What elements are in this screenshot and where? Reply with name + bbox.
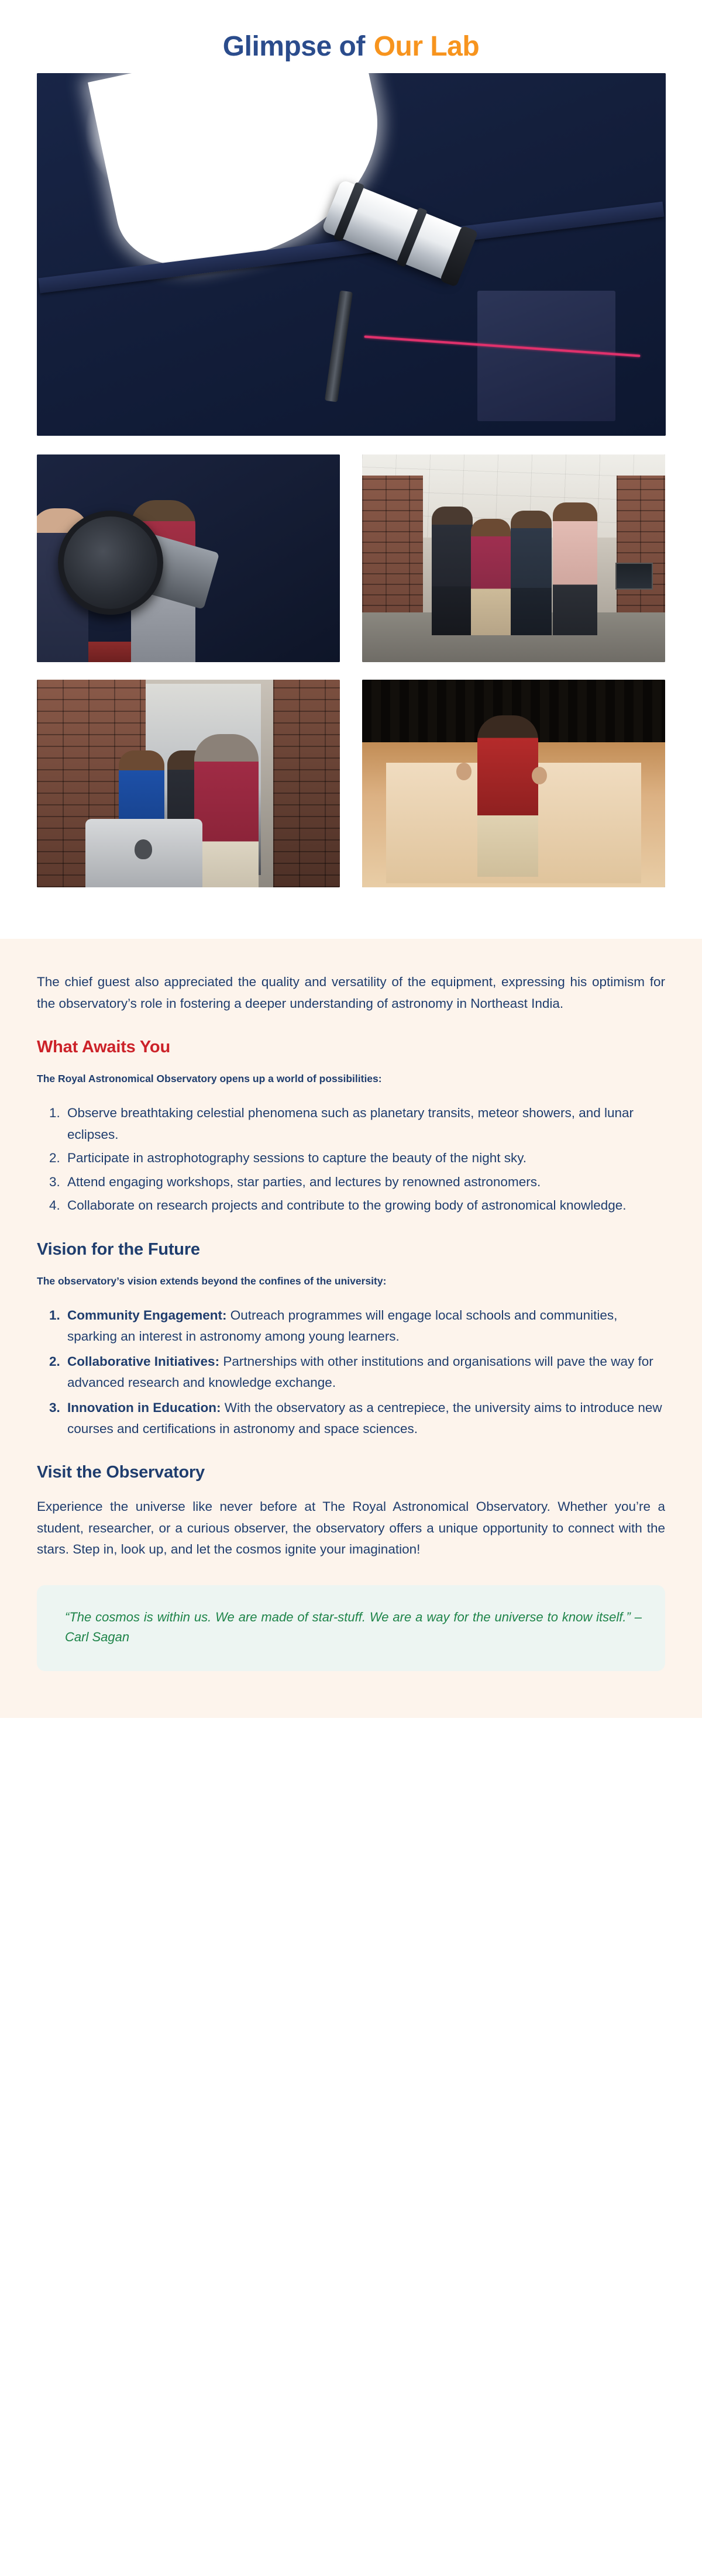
dome-door-panel (477, 291, 616, 421)
telescope-ring-1 (333, 182, 364, 242)
telescope-ring-2 (396, 208, 428, 267)
group-in-lab-photo (362, 454, 665, 662)
person-plaid-shirt (194, 734, 259, 888)
heading-visit-the-observatory: Visit the Observatory (37, 1463, 665, 1482)
vision-list: Community Engagement: Outreach programme… (37, 1305, 665, 1440)
brick-wall-foreground-right (273, 680, 340, 887)
person-suit-2 (511, 511, 552, 635)
page-title-primary: Glimpse of (223, 31, 365, 62)
visit-paragraph: Experience the universe like never befor… (37, 1496, 665, 1560)
speaker-figure (477, 715, 538, 877)
telescope-tube (321, 180, 472, 283)
person-pink-shirt (553, 502, 597, 635)
gallery-image-2[interactable] (362, 454, 665, 662)
gallery-row-2 (37, 680, 665, 887)
observatory-dome-photo (37, 73, 666, 436)
gallery-hero-image[interactable] (37, 73, 666, 436)
gallery-image-3[interactable] (37, 680, 340, 887)
gallery-image-4[interactable] (362, 680, 665, 887)
quote-box: “The cosmos is within us. We are made of… (37, 1585, 665, 1672)
lab-monitor (615, 563, 653, 590)
person-suit-1 (432, 507, 473, 635)
stage-speaker-photo (362, 680, 665, 887)
telescope-aperture (58, 511, 163, 615)
awaits-list: Observe breathtaking celestial phenomena… (37, 1103, 665, 1216)
list-item: Collaborative Initiatives: Partnerships … (64, 1351, 665, 1394)
discussion-photo (37, 680, 340, 887)
heading-vision-for-the-future: Vision for the Future (37, 1240, 665, 1259)
visitors-with-telescope-photo (37, 454, 340, 662)
list-item-title: Community Engagement: (67, 1308, 227, 1323)
list-item: Participate in astrophotography sessions… (64, 1148, 665, 1169)
list-item: Community Engagement: Outreach programme… (64, 1305, 665, 1348)
intro-paragraph: The chief guest also appreciated the qua… (37, 972, 665, 1014)
page-title: Glimpse of Our Lab (0, 30, 702, 63)
quote-text: “The cosmos is within us. We are made of… (65, 1607, 642, 1648)
telescope-mount (325, 291, 353, 402)
lead-vision-for-the-future: The observatory’s vision extends beyond … (37, 1273, 665, 1289)
photo-gallery (0, 73, 702, 887)
list-item: Observe breathtaking celestial phenomena… (64, 1103, 665, 1145)
speaker-hand-left (456, 763, 472, 780)
list-item-title: Innovation in Education: (67, 1400, 221, 1415)
page-title-accent: Our Lab (374, 31, 480, 62)
list-item: Innovation in Education: With the observ… (64, 1397, 665, 1440)
gallery-row-1 (37, 454, 665, 662)
lead-what-awaits-you: The Royal Astronomical Observatory opens… (37, 1071, 665, 1086)
gallery-image-1[interactable] (37, 454, 340, 662)
list-item: Collaborate on research projects and con… (64, 1195, 665, 1216)
list-item: Attend engaging workshops, star parties,… (64, 1172, 665, 1193)
page-title-container: Glimpse of Our Lab (0, 0, 702, 73)
person-maroon-shirt (471, 519, 511, 635)
heading-what-awaits-you: What Awaits You (37, 1038, 665, 1057)
list-item-title: Collaborative Initiatives: (67, 1354, 219, 1369)
imac-computer (85, 819, 202, 887)
article-content: The chief guest also appreciated the qua… (0, 939, 702, 1718)
article-page: Glimpse of Our Lab (0, 0, 702, 2576)
